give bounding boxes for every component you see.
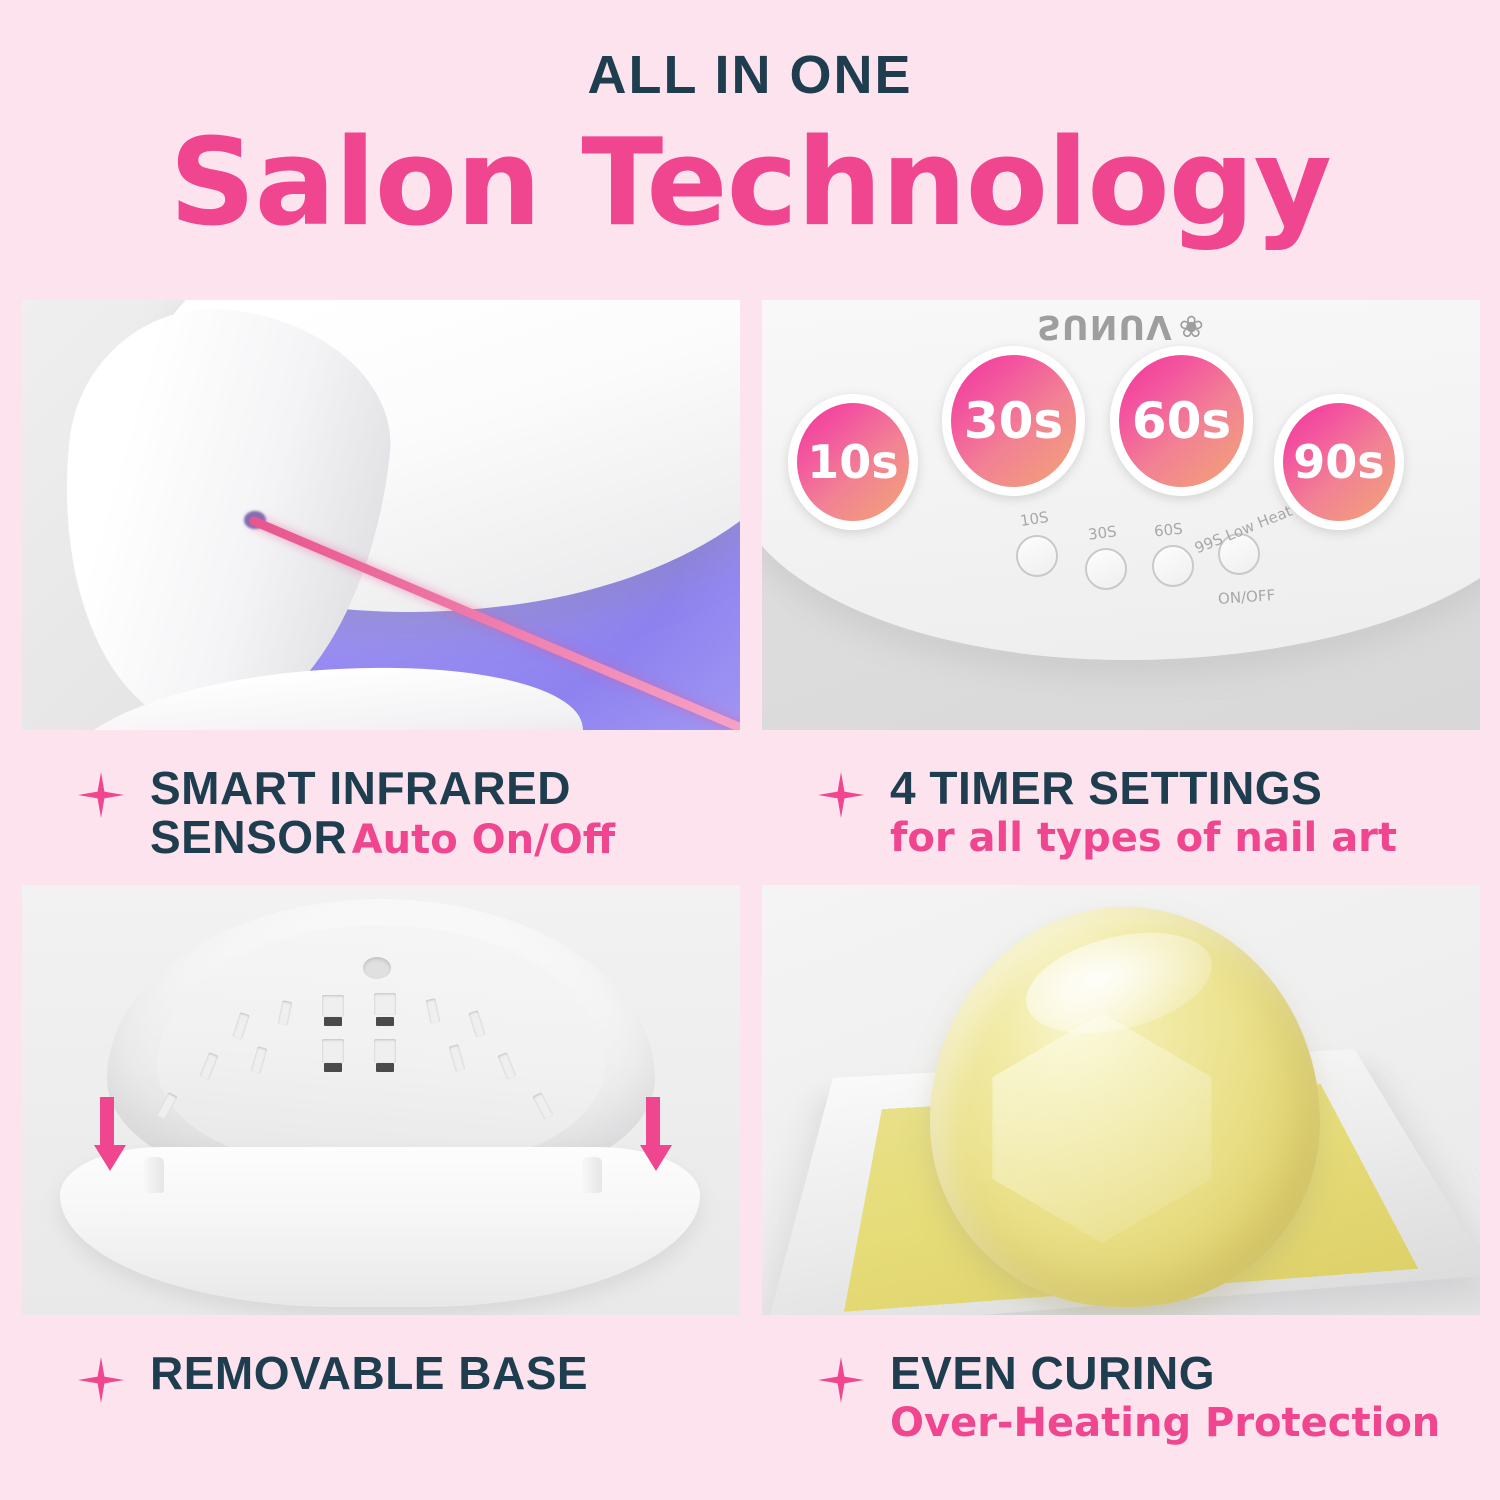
led-chip xyxy=(376,1017,394,1026)
caption-heading: 4 TIMER SETTINGS xyxy=(890,762,1322,814)
page-header: ALL IN ONE Salon Technology xyxy=(0,0,1500,247)
timer-bubble-group: 10s 30s 60s 90s xyxy=(762,300,1480,730)
timer-bubble-60s: 60s xyxy=(1110,346,1253,496)
photo-timer-settings: SUNUV ❀ 10S 30S 60S 99S Low Heat Mode ON… xyxy=(762,300,1480,730)
caption-text-block: SMART INFRARED SENSOR Auto On/Off xyxy=(150,764,615,862)
feature-card-timer-settings: SUNUV ❀ 10S 30S 60S 99S Low Heat Mode ON… xyxy=(762,300,1480,885)
timer-bubble-90s: 90s xyxy=(1274,394,1404,530)
feature-card-removable-base: REMOVABLE BASE xyxy=(22,885,740,1470)
timer-bubble-10s: 10s xyxy=(788,394,918,530)
page-title: Salon Technology xyxy=(0,122,1500,247)
led-chip xyxy=(324,1017,342,1026)
photo-smart-infrared-sensor xyxy=(22,300,740,730)
caption-text-block: 4 TIMER SETTINGS for all types of nail a… xyxy=(890,764,1397,859)
led-chip xyxy=(324,1063,342,1072)
base-peg-right xyxy=(582,1157,602,1193)
timer-bubble-30s: 30s xyxy=(942,346,1085,496)
led-slot xyxy=(374,1039,396,1063)
photo-removable-base xyxy=(22,885,740,1315)
caption-heading: REMOVABLE BASE xyxy=(150,1347,588,1399)
sparkle-icon xyxy=(78,1357,124,1403)
caption-text-block: EVEN CURING Over-Heating Protection xyxy=(890,1349,1440,1444)
eyebrow-text: ALL IN ONE xyxy=(0,48,1500,102)
caption-even-curing: EVEN CURING Over-Heating Protection xyxy=(762,1315,1480,1470)
led-chip xyxy=(376,1063,394,1072)
down-arrow-right-icon xyxy=(640,1097,666,1171)
caption-subtext: Auto On/Off xyxy=(352,817,615,863)
caption-smart-infrared-sensor: SMART INFRARED SENSOR Auto On/Off xyxy=(22,730,740,885)
caption-timer-settings: 4 TIMER SETTINGS for all types of nail a… xyxy=(762,730,1480,885)
feature-card-even-curing: EVEN CURING Over-Heating Protection xyxy=(762,885,1480,1470)
sparkle-icon xyxy=(818,772,864,818)
caption-heading-line1: SMART INFRARED xyxy=(150,762,571,814)
photo-even-curing xyxy=(762,885,1480,1315)
base-peg-left xyxy=(144,1157,164,1193)
caption-subtext: Over-Heating Protection xyxy=(890,1402,1440,1444)
caption-subtext: for all types of nail art xyxy=(890,817,1397,859)
sparkle-icon xyxy=(818,1357,864,1403)
led-slot xyxy=(322,1039,344,1063)
caption-heading: EVEN CURING xyxy=(890,1347,1215,1399)
caption-text-block: REMOVABLE BASE xyxy=(150,1349,588,1398)
caption-removable-base: REMOVABLE BASE xyxy=(22,1315,740,1470)
feature-grid: SMART INFRARED SENSOR Auto On/Off SUNUV … xyxy=(22,300,1480,1470)
led-slot xyxy=(374,993,396,1015)
caption-heading-line2: SENSOR xyxy=(150,811,347,863)
feature-card-smart-infrared-sensor: SMART INFRARED SENSOR Auto On/Off xyxy=(22,300,740,885)
led-slot xyxy=(322,995,344,1017)
down-arrow-left-icon xyxy=(94,1097,120,1171)
sparkle-icon xyxy=(78,772,124,818)
sensor-hole-graphic xyxy=(363,957,391,979)
